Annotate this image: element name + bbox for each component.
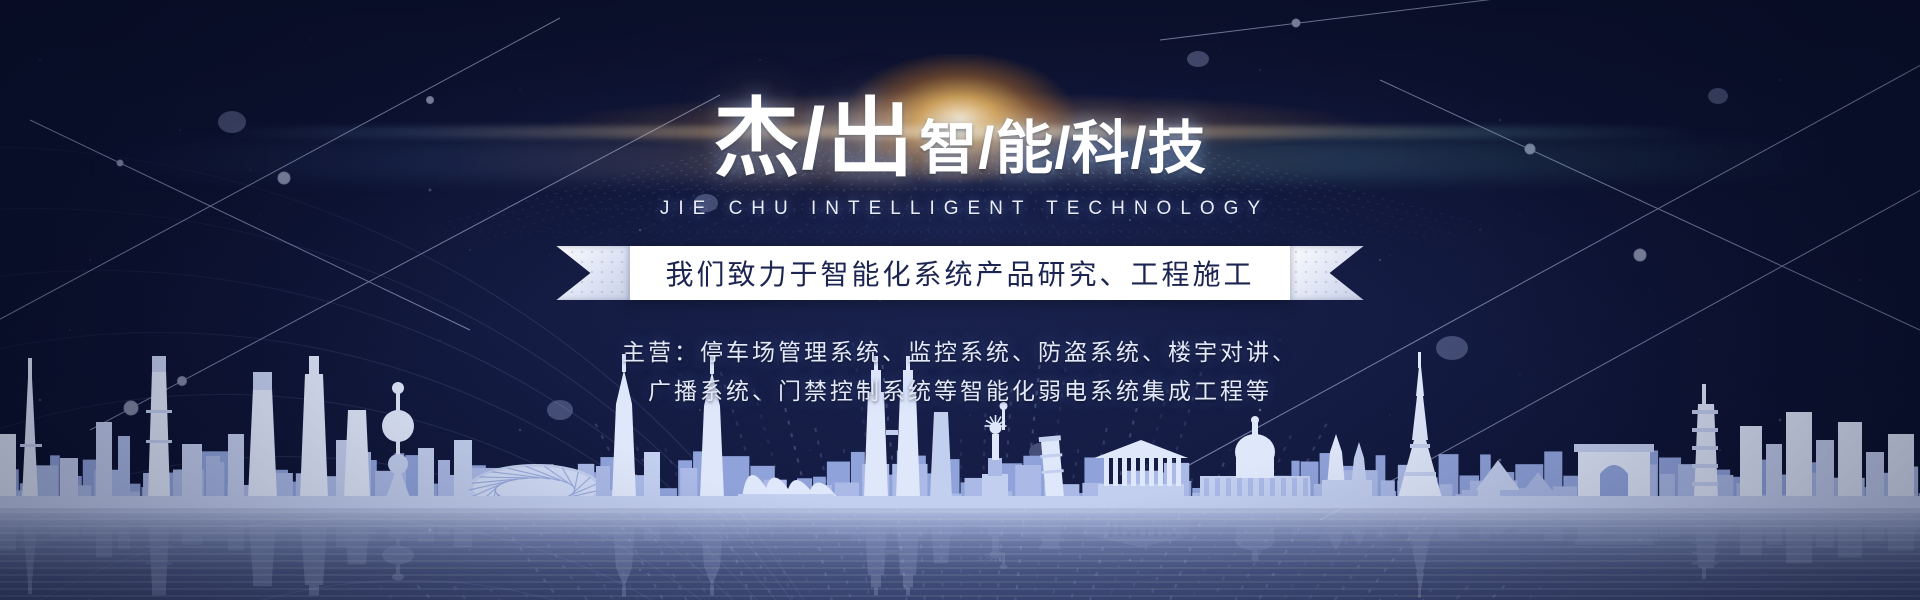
banner-content: 杰/出 智/能/科/技 JIE CHU INTELLIGENT TECHNOLO… <box>0 0 1920 600</box>
main-title: 杰/出 智/能/科/技 <box>713 96 1206 182</box>
ribbon-body: 我们致力于智能化系统产品研究、工程施工 <box>629 246 1290 300</box>
title-secondary: 智/能/科/技 <box>919 120 1206 182</box>
ribbon-tail-left <box>556 246 630 300</box>
services-description: 主营：停车场管理系统、监控系统、防盗系统、楼宇对讲、 广播系统、门禁控制系统等智… <box>622 334 1298 412</box>
tagline-ribbon: 我们致力于智能化系统产品研究、工程施工 <box>556 246 1363 300</box>
title-primary: 杰/出 <box>713 96 915 182</box>
hero-banner: 杰/出 智/能/科/技 JIE CHU INTELLIGENT TECHNOLO… <box>0 0 1920 600</box>
services-line-2: 广播系统、门禁控制系统等智能化弱电系统集成工程等 <box>622 373 1298 412</box>
services-line-1: 主营：停车场管理系统、监控系统、防盗系统、楼宇对讲、 <box>622 334 1298 373</box>
ribbon-text: 我们致力于智能化系统产品研究、工程施工 <box>665 253 1254 293</box>
ribbon-tail-right <box>1290 246 1364 300</box>
title-english-subtitle: JIE CHU INTELLIGENT TECHNOLOGY <box>651 198 1269 220</box>
